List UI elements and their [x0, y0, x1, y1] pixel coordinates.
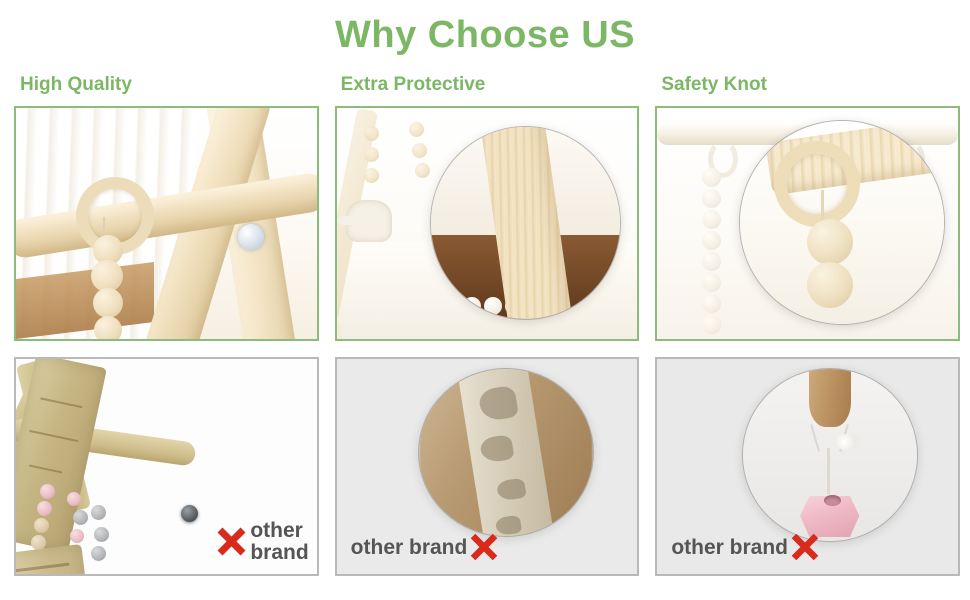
other-brand-label: other brand: [250, 520, 308, 564]
wooden-bead: [442, 297, 460, 315]
photo-safety-knot-good: [657, 108, 958, 339]
other-brand-label: other brand: [351, 537, 468, 559]
pink-bead: [40, 484, 55, 499]
wood-splinter: [16, 562, 70, 572]
magnifier-lens: [430, 126, 621, 320]
wooden-bead: [702, 252, 721, 271]
magnifier-lens: [742, 368, 918, 542]
bad-panel-safety-knot: other brand: [655, 357, 960, 576]
wooden-bead: [364, 147, 379, 162]
wooden-bead: [412, 143, 427, 158]
wooden-bead: [364, 168, 379, 183]
wooden-bead: [409, 122, 424, 137]
photo-high-quality-good: [16, 108, 317, 339]
good-panel-extra-protective: [335, 106, 640, 341]
column-high-quality: High Quality: [14, 70, 319, 576]
loose-cord: [827, 448, 830, 494]
page-title: Why Choose US: [0, 12, 970, 58]
lens-wooden-ring: [774, 141, 860, 227]
wooden-bead: [702, 315, 721, 334]
elephant-toy: [346, 200, 392, 242]
frayed-knot: [833, 434, 861, 450]
photo-extra-protective-good: [337, 108, 638, 339]
grey-bead: [94, 527, 109, 542]
wood-peel: [479, 435, 514, 464]
bead-strand: [702, 168, 721, 334]
pink-bead: [70, 529, 84, 543]
wooden-dowel: [809, 368, 851, 427]
other-brand-tag: other brand: [351, 532, 501, 564]
wooden-bead: [702, 210, 721, 229]
wood-splinter: [40, 397, 83, 408]
other-brand-label: other brand: [671, 537, 788, 559]
lens-beads: [807, 222, 853, 308]
red-x-icon: [789, 532, 821, 564]
wooden-bead: [94, 316, 122, 339]
column-heading-high-quality: High Quality: [14, 70, 319, 100]
red-x-icon: [468, 532, 500, 564]
wood-peel: [496, 477, 527, 501]
wooden-bead: [702, 168, 721, 187]
bad-panel-high-quality: other brand: [14, 357, 319, 576]
pink-bead: [37, 501, 52, 516]
wooden-bead: [463, 297, 481, 315]
grey-bead: [73, 510, 88, 525]
wooden-bead: [702, 231, 721, 250]
magnifier-lens: [418, 368, 594, 538]
wood-splinter: [29, 464, 63, 473]
wooden-bead: [702, 189, 721, 208]
wooden-bead: [93, 288, 123, 318]
wood-peel: [477, 385, 519, 423]
wooden-bead: [807, 219, 853, 265]
column-heading-safety-knot: Safety Knot: [655, 70, 960, 100]
good-panel-high-quality: [14, 106, 319, 341]
protective-bolt-cap: [238, 224, 264, 250]
bad-panel-extra-protective: other brand: [335, 357, 640, 576]
wooden-bead: [702, 294, 721, 313]
wood-splinter: [29, 429, 79, 441]
column-safety-knot: Safety Knot: [655, 70, 960, 576]
column-extra-protective: Extra Protective: [335, 70, 640, 576]
column-heading-extra-protective: Extra Protective: [335, 70, 640, 100]
magnifier-lens: [739, 120, 945, 325]
other-brand-tag: other brand: [214, 520, 308, 564]
other-brand-tag: other brand: [671, 532, 821, 564]
good-panel-safety-knot: [655, 106, 960, 341]
wooden-bead: [807, 262, 853, 308]
red-x-icon: [214, 525, 248, 559]
wooden-bead: [484, 297, 502, 315]
wooden-bead: [702, 273, 721, 292]
comparison-columns: High Quality: [14, 70, 960, 576]
